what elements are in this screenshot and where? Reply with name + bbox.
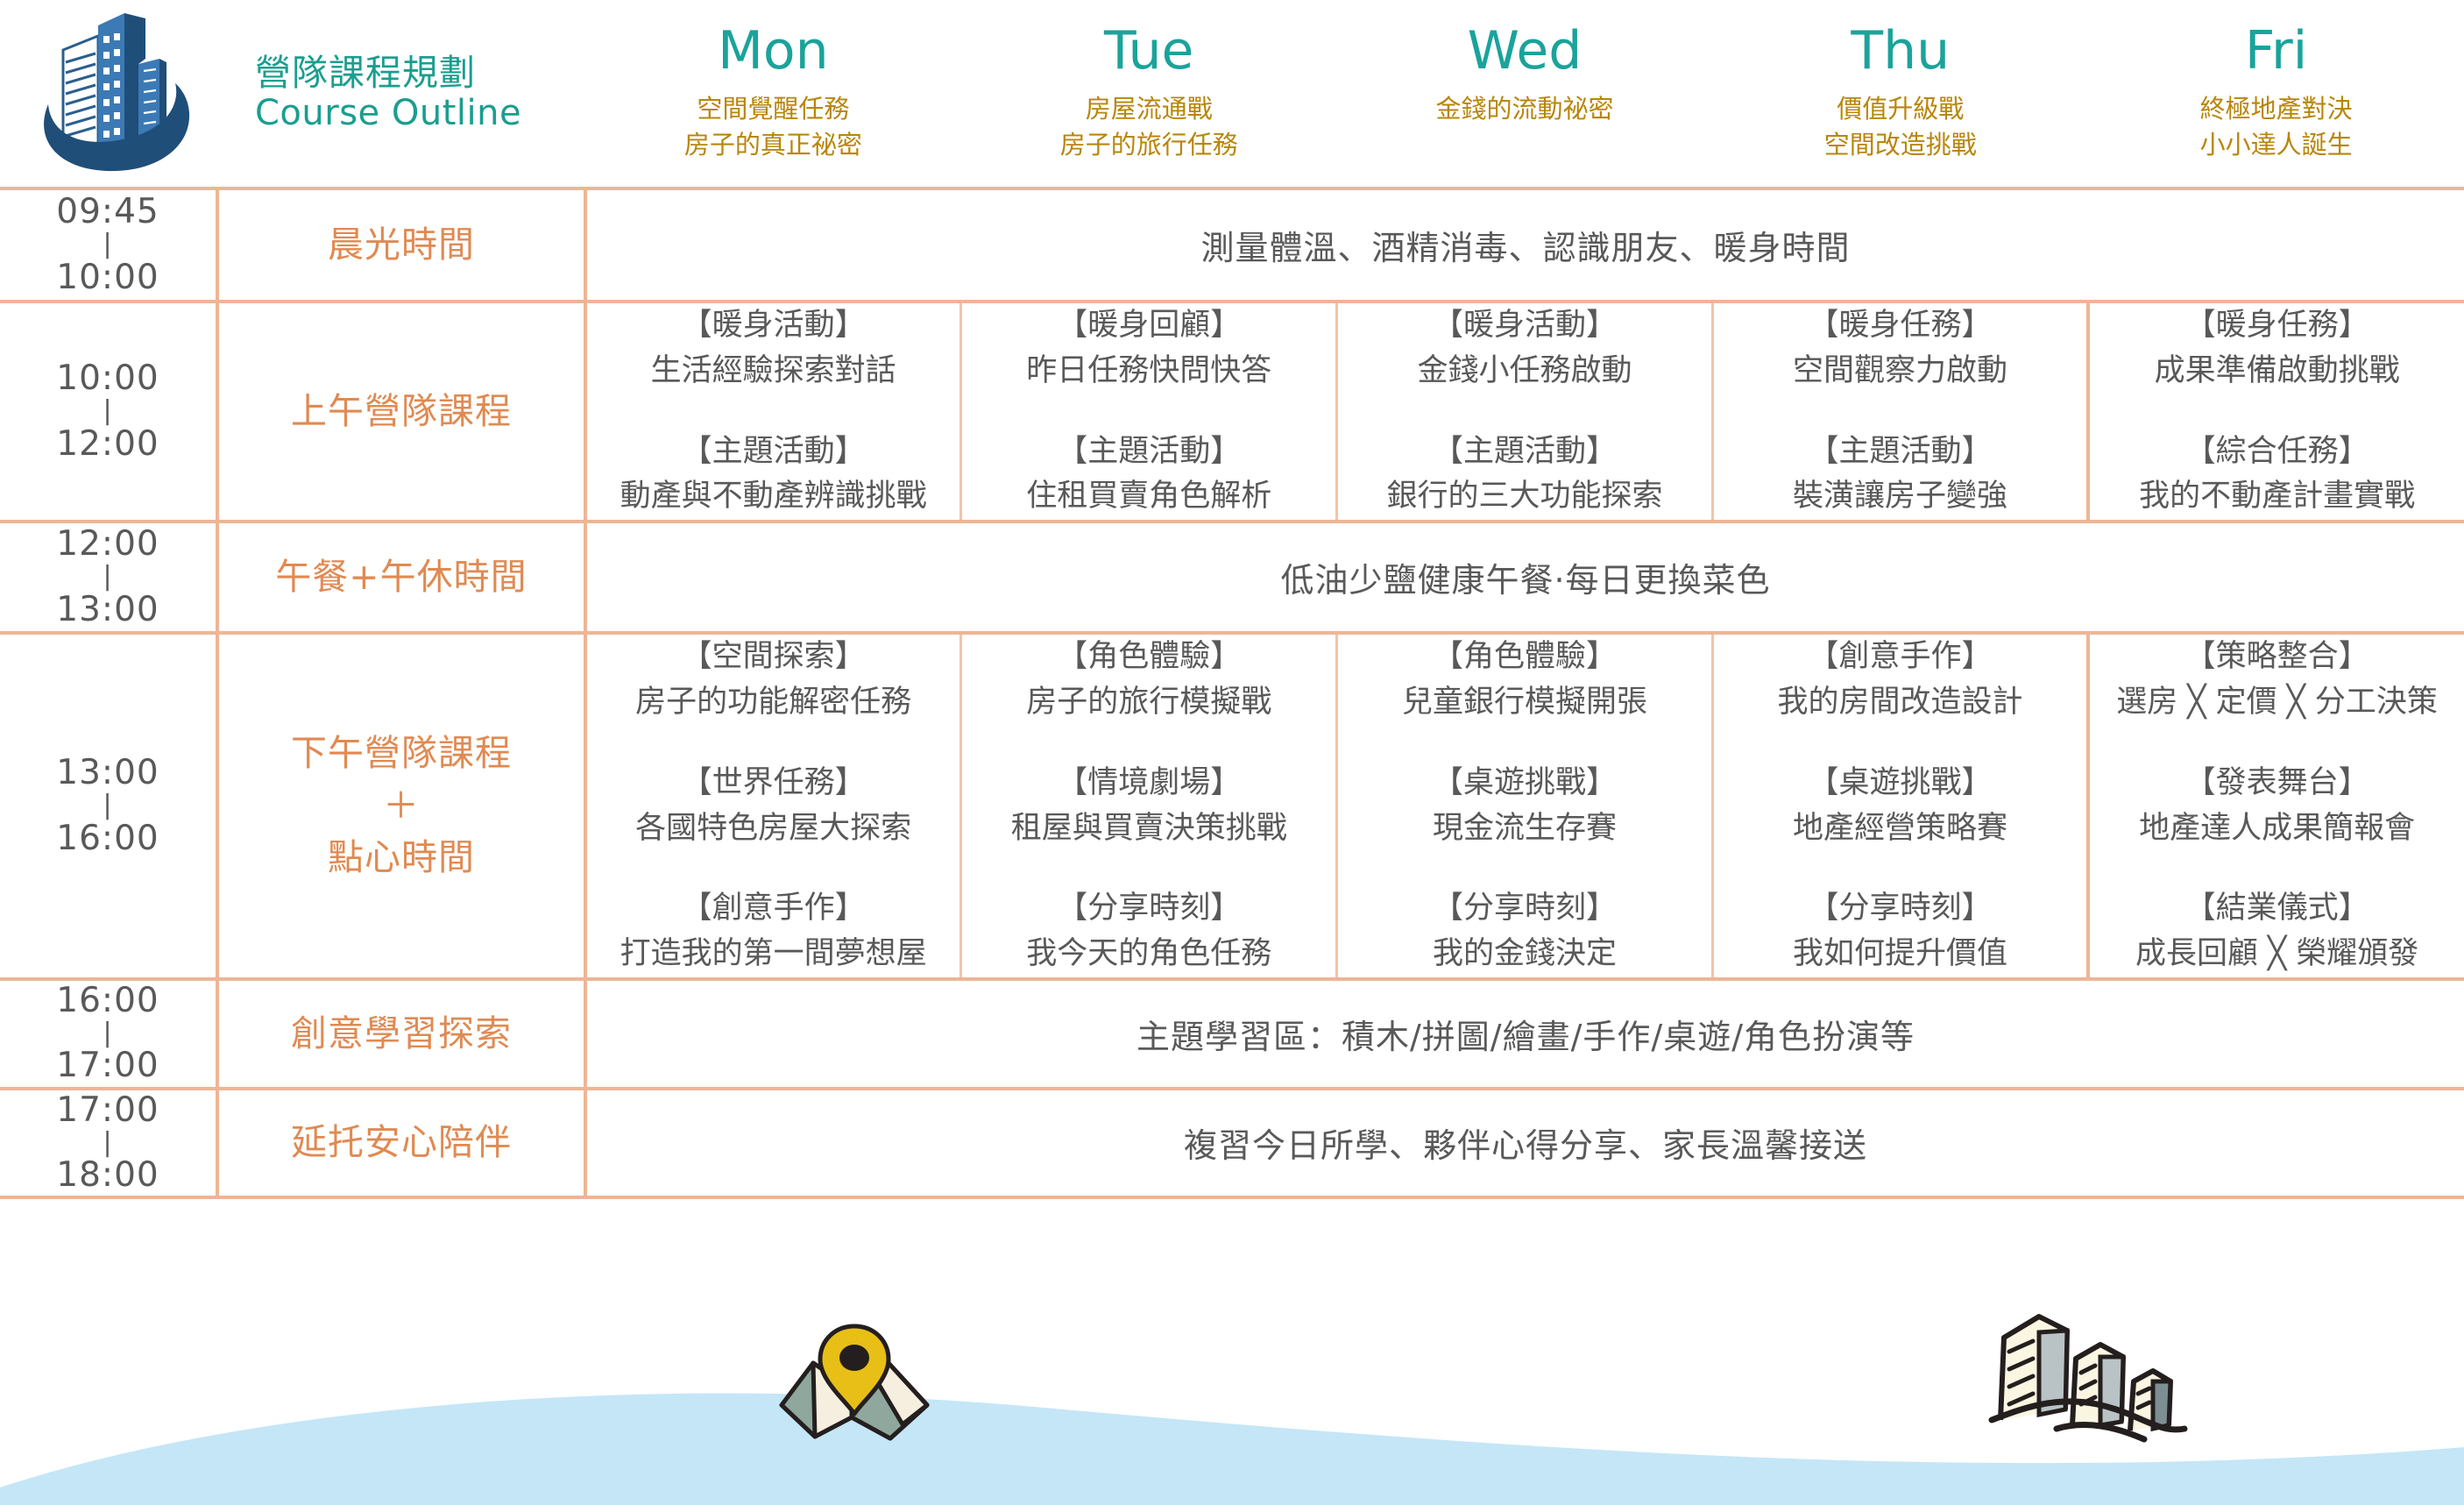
time-cell: 09:45 | 10:00	[0, 188, 217, 302]
course-desc: 我如何提升價值	[1714, 932, 2086, 977]
course-block: 【暖身活動】 金錢小任務啟動	[1338, 303, 1711, 394]
course-tag: 【角色體驗】	[962, 635, 1335, 680]
course-block: 【主題活動】 住租買賣角色解析	[962, 429, 1335, 521]
course-desc: 空間觀察力啟動	[1714, 349, 2086, 394]
span-text: 測量體溫、酒精消毒、認識朋友、暖身時間	[1201, 229, 1851, 267]
row-label: 上午營隊課程	[291, 390, 512, 432]
table-row-pm-course: 13:00 | 16:00 下午營隊課程 ＋ 點心時間 【空間探索】 房子的功能…	[0, 633, 2464, 979]
time-start: 09:45	[56, 192, 159, 231]
course-block: 【主題活動】 銀行的三大功能探索	[1338, 429, 1711, 521]
day-subtitle-line1: 房屋流通戰	[1086, 94, 1213, 124]
day-name: Thu	[1851, 25, 1950, 77]
course-desc: 金錢小任務啟動	[1338, 349, 1711, 394]
time-start: 12:00	[56, 524, 159, 564]
row-span-content: 複習今日所學、夥伴心得分享、家長溫馨接送	[585, 1089, 2464, 1198]
course-desc: 銀行的三大功能探索	[1338, 474, 1711, 520]
course-tag: 【角色體驗】	[1338, 635, 1711, 680]
course-desc: 現金流生存賽	[1338, 806, 1711, 852]
course-block: 【角色體驗】 兒童銀行模擬開張	[1338, 635, 1711, 726]
time-dash: |	[0, 399, 216, 424]
course-block: 【桌遊挑戰】 地產經營策略賽	[1714, 761, 2086, 852]
course-block: 【分享時刻】 我的金錢決定	[1338, 886, 1711, 977]
course-tag: 【發表舞台】	[2090, 761, 2464, 806]
day-subtitle-line2: 小小達人誕生	[2200, 130, 2353, 160]
course-tag: 【分享時刻】	[1338, 886, 1711, 932]
day-subtitle: 價值升級戰 空間改造挑戰	[1824, 91, 1977, 163]
course-desc: 成長回顧 ╳ 榮耀頒發	[2090, 932, 2464, 977]
course-block: 【主題活動】 裝潢讓房子變強	[1714, 429, 2086, 521]
row-label-cell: 午餐+午休時間	[217, 522, 585, 633]
day-header-fri: Fri 終極地產對決 小小達人誕生	[2088, 0, 2464, 187]
day-subtitle-line1: 金錢的流動祕密	[1435, 94, 1613, 124]
row-label: 創意學習探索	[291, 1012, 512, 1054]
row-label-line2: ＋	[383, 784, 420, 827]
time-dash: |	[0, 564, 216, 590]
row-span-content: 測量體溫、酒精消毒、認識朋友、暖身時間	[585, 188, 2464, 302]
course-desc: 我的不動產計畫實戰	[2090, 474, 2464, 520]
course-desc: 裝潢讓房子變強	[1714, 474, 2086, 520]
time-dash: |	[0, 232, 216, 258]
course-tag: 【世界任務】	[587, 761, 959, 806]
course-tag: 【創意手作】	[587, 886, 959, 932]
course-desc: 動產與不動產辨識挑戰	[587, 474, 959, 520]
day-subtitle-line1: 終極地產對決	[2200, 94, 2353, 124]
brand-title-cn: 營隊課程規劃	[255, 53, 521, 94]
span-text: 低油少鹽健康午餐·每日更換菜色	[1280, 561, 1770, 600]
time-cell: 10:00 | 12:00	[0, 302, 217, 522]
row-label-cell: 晨光時間	[217, 188, 585, 302]
span-text: 主題學習區：積木/拼圖/繪畫/手作/桌遊/角色扮演等	[1136, 1018, 1915, 1056]
schedule-table: 09:45 | 10:00 晨光時間 測量體溫、酒精消毒、認識朋友、暖身時間 1…	[0, 187, 2464, 1199]
course-block: 【策略整合】 選房 ╳ 定價 ╳ 分工決策	[2090, 635, 2464, 726]
course-block: 【暖身任務】 空間觀察力啟動	[1714, 303, 2086, 394]
course-block: 【創意手作】 打造我的第一間夢想屋	[587, 886, 959, 977]
course-tag: 【主題活動】	[1714, 429, 2086, 475]
course-tag: 【結業儀式】	[2090, 886, 2464, 932]
course-desc: 我的金錢決定	[1338, 932, 1711, 977]
day-subtitle-line1: 價值升級戰	[1837, 94, 1964, 124]
course-tag: 【創意手作】	[1714, 635, 2086, 680]
day-name: Fri	[2245, 25, 2307, 77]
time-dash: |	[0, 793, 216, 819]
course-block: 【空間探索】 房子的功能解密任務	[587, 635, 959, 726]
course-desc: 打造我的第一間夢想屋	[587, 932, 959, 977]
course-tag: 【暖身任務】	[1714, 303, 2086, 349]
course-block: 【世界任務】 各國特色房屋大探索	[587, 761, 959, 852]
time-end: 10:00	[56, 258, 159, 297]
course-block: 【創意手作】 我的房間改造設計	[1714, 635, 2086, 726]
table-row-lunch: 12:00 | 13:00 午餐+午休時間 低油少鹽健康午餐·每日更換菜色	[0, 522, 2464, 633]
course-tag: 【主題活動】	[587, 429, 959, 475]
course-tag: 【綜合任務】	[2090, 429, 2464, 475]
course-outline-sheet: 營隊課程規劃 Course Outline Mon 空間覺醒任務 房子的真正祕密…	[0, 0, 2464, 1505]
row-label-cell: 下午營隊課程 ＋ 點心時間	[217, 633, 585, 979]
course-cell-wed-pm: 【角色體驗】 兒童銀行模擬開張 【桌遊挑戰】 現金流生存賽 【分享時刻】 我的金…	[1337, 633, 1713, 979]
time-end: 17:00	[56, 1046, 159, 1085]
course-tag: 【空間探索】	[587, 635, 959, 680]
day-subtitle-line2: 房子的旅行任務	[1060, 130, 1238, 160]
course-cell-thu-pm: 【創意手作】 我的房間改造設計 【桌遊挑戰】 地產經營策略賽 【分享時刻】 我如…	[1712, 633, 2088, 979]
course-cell-thu-am: 【暖身任務】 空間觀察力啟動 【主題活動】 裝潢讓房子變強	[1712, 302, 2088, 522]
course-desc: 我的房間改造設計	[1714, 680, 2086, 726]
time-dash: |	[0, 1131, 216, 1156]
table-header: 營隊課程規劃 Course Outline Mon 空間覺醒任務 房子的真正祕密…	[0, 0, 2464, 187]
course-cell-tue-am: 【暖身回顧】 昨日任務快問快答 【主題活動】 住租買賣角色解析	[961, 302, 1337, 522]
day-subtitle: 金錢的流動祕密	[1435, 91, 1613, 127]
course-block: 【發表舞台】 地產達人成果簡報會	[2090, 761, 2464, 852]
course-tag: 【主題活動】	[962, 429, 1335, 475]
course-tag: 【暖身活動】	[1338, 303, 1711, 349]
course-desc: 我今天的角色任務	[962, 932, 1335, 977]
course-cell-mon-am: 【暖身活動】 生活經驗探索對話 【主題活動】 動產與不動產辨識挑戰	[585, 302, 961, 522]
time-cell: 13:00 | 16:00	[0, 633, 217, 979]
course-tag: 【暖身任務】	[2090, 303, 2464, 349]
course-tag: 【主題活動】	[1338, 429, 1711, 475]
course-desc: 房子的功能解密任務	[587, 680, 959, 726]
course-block: 【綜合任務】 我的不動產計畫實戰	[2090, 429, 2464, 521]
row-label-cell: 創意學習探索	[217, 979, 585, 1089]
course-block: 【暖身任務】 成果準備啟動挑戰	[2090, 303, 2464, 394]
time-start: 13:00	[56, 753, 159, 792]
day-header-tue: Tue 房屋流通戰 房子的旅行任務	[961, 0, 1337, 187]
course-tag: 【桌遊挑戰】	[1714, 761, 2086, 806]
course-desc: 各國特色房屋大探索	[587, 806, 959, 852]
time-end: 13:00	[56, 590, 159, 629]
course-cell-tue-pm: 【角色體驗】 房子的旅行模擬戰 【情境劇場】 租屋與買賣決策挑戰 【分享時刻】 …	[961, 633, 1337, 979]
row-label-line3: 點心時間	[328, 836, 475, 878]
course-desc: 房子的旅行模擬戰	[962, 680, 1335, 726]
course-block: 【主題活動】 動產與不動產辨識挑戰	[587, 429, 959, 521]
time-end: 16:00	[56, 819, 159, 858]
course-desc: 生活經驗探索對話	[587, 349, 959, 394]
day-subtitle: 空間覺醒任務 房子的真正祕密	[684, 91, 862, 163]
course-cell-mon-pm: 【空間探索】 房子的功能解密任務 【世界任務】 各國特色房屋大探索 【創意手作】…	[585, 633, 961, 979]
course-block: 【角色體驗】 房子的旅行模擬戰	[962, 635, 1335, 726]
time-dash: |	[0, 1021, 216, 1047]
row-span-content: 主題學習區：積木/拼圖/繪畫/手作/桌遊/角色扮演等	[585, 979, 2464, 1089]
day-subtitle-line2: 房子的真正祕密	[684, 130, 862, 160]
course-block: 【結業儀式】 成長回顧 ╳ 榮耀頒發	[2090, 886, 2464, 977]
course-tag: 【分享時刻】	[1714, 886, 2086, 932]
three-buildings-icon	[1985, 1297, 2191, 1451]
row-label: 晨光時間	[328, 224, 475, 266]
course-block: 【暖身回顧】 昨日任務快問快答	[962, 303, 1335, 394]
day-name: Tue	[1104, 25, 1193, 77]
course-block: 【分享時刻】 我如何提升價值	[1714, 886, 2086, 977]
day-header-mon: Mon 空間覺醒任務 房子的真正祕密	[585, 0, 961, 187]
course-tag: 【桌遊挑戰】	[1338, 761, 1711, 806]
row-label: 延托安心陪伴	[291, 1121, 512, 1163]
course-tag: 【策略整合】	[2090, 635, 2464, 680]
day-subtitle-line1: 空間覺醒任務	[697, 94, 849, 124]
course-tag: 【情境劇場】	[962, 761, 1335, 806]
course-block: 【暖身活動】 生活經驗探索對話	[587, 303, 959, 394]
time-start: 17:00	[56, 1090, 159, 1130]
course-block: 【情境劇場】 租屋與買賣決策挑戰	[962, 761, 1335, 852]
buildings-swoosh-logo-icon	[26, 6, 241, 181]
course-block: 【分享時刻】 我今天的角色任務	[962, 886, 1335, 977]
span-text: 複習今日所學、夥伴心得分享、家長溫馨接送	[1184, 1126, 1867, 1165]
row-span-content: 低油少鹽健康午餐·每日更換菜色	[585, 522, 2464, 633]
day-name: Wed	[1468, 25, 1582, 77]
row-label: 午餐+午休時間	[275, 556, 527, 598]
day-name: Mon	[718, 25, 829, 77]
row-label-cell: 上午營隊課程	[217, 302, 585, 522]
course-tag: 【暖身活動】	[587, 303, 959, 349]
course-desc: 昨日任務快問快答	[962, 349, 1335, 394]
table-row-extended: 17:00 | 18:00 延托安心陪伴 複習今日所學、夥伴心得分享、家長溫馨接…	[0, 1089, 2464, 1198]
time-cell: 16:00 | 17:00	[0, 979, 217, 1089]
course-desc: 住租買賣角色解析	[962, 474, 1335, 520]
brand-title-en: Course Outline	[255, 94, 521, 133]
course-desc: 成果準備啟動挑戰	[2090, 349, 2464, 394]
row-label-line1: 下午營隊課程	[291, 732, 512, 774]
row-label-cell: 延托安心陪伴	[217, 1089, 585, 1198]
day-subtitle: 房屋流通戰 房子的旅行任務	[1060, 91, 1238, 163]
time-cell: 12:00 | 13:00	[0, 522, 217, 633]
course-block: 【桌遊挑戰】 現金流生存賽	[1338, 761, 1711, 852]
folded-map-with-pin-icon	[771, 1309, 938, 1449]
time-end: 12:00	[56, 424, 159, 464]
day-header-wed: Wed 金錢的流動祕密	[1337, 0, 1713, 187]
table-row-creative: 16:00 | 17:00 創意學習探索 主題學習區：積木/拼圖/繪畫/手作/桌…	[0, 979, 2464, 1089]
time-cell: 17:00 | 18:00	[0, 1089, 217, 1198]
day-subtitle-line2: 空間改造挑戰	[1824, 130, 1977, 160]
course-cell-wed-am: 【暖身活動】 金錢小任務啟動 【主題活動】 銀行的三大功能探索	[1337, 302, 1713, 522]
time-start: 16:00	[56, 981, 159, 1020]
course-desc: 地產經營策略賽	[1714, 806, 2086, 852]
brand-titles: 營隊課程規劃 Course Outline	[255, 53, 521, 133]
day-header-thu: Thu 價值升級戰 空間改造挑戰	[1712, 0, 2088, 187]
course-desc: 租屋與買賣決策挑戰	[962, 806, 1335, 852]
course-cell-fri-pm: 【策略整合】 選房 ╳ 定價 ╳ 分工決策 【發表舞台】 地產達人成果簡報會 【…	[2088, 633, 2464, 979]
course-desc: 選房 ╳ 定價 ╳ 分工決策	[2090, 680, 2464, 726]
course-tag: 【分享時刻】	[962, 886, 1335, 932]
time-start: 10:00	[56, 359, 159, 398]
time-end: 18:00	[56, 1155, 159, 1195]
course-desc: 兒童銀行模擬開張	[1338, 680, 1711, 726]
course-tag: 【暖身回顧】	[962, 303, 1335, 349]
course-cell-fri-am: 【暖身任務】 成果準備啟動挑戰 【綜合任務】 我的不動產計畫實戰	[2088, 302, 2464, 522]
course-desc: 地產達人成果簡報會	[2090, 806, 2464, 852]
table-row-morning: 09:45 | 10:00 晨光時間 測量體溫、酒精消毒、認識朋友、暖身時間	[0, 188, 2464, 302]
brand-block: 營隊課程規劃 Course Outline	[0, 0, 585, 187]
table-row-am-course: 10:00 | 12:00 上午營隊課程 【暖身活動】 生活經驗探索對話 【主題…	[0, 302, 2464, 522]
day-subtitle: 終極地產對決 小小達人誕生	[2200, 91, 2353, 163]
